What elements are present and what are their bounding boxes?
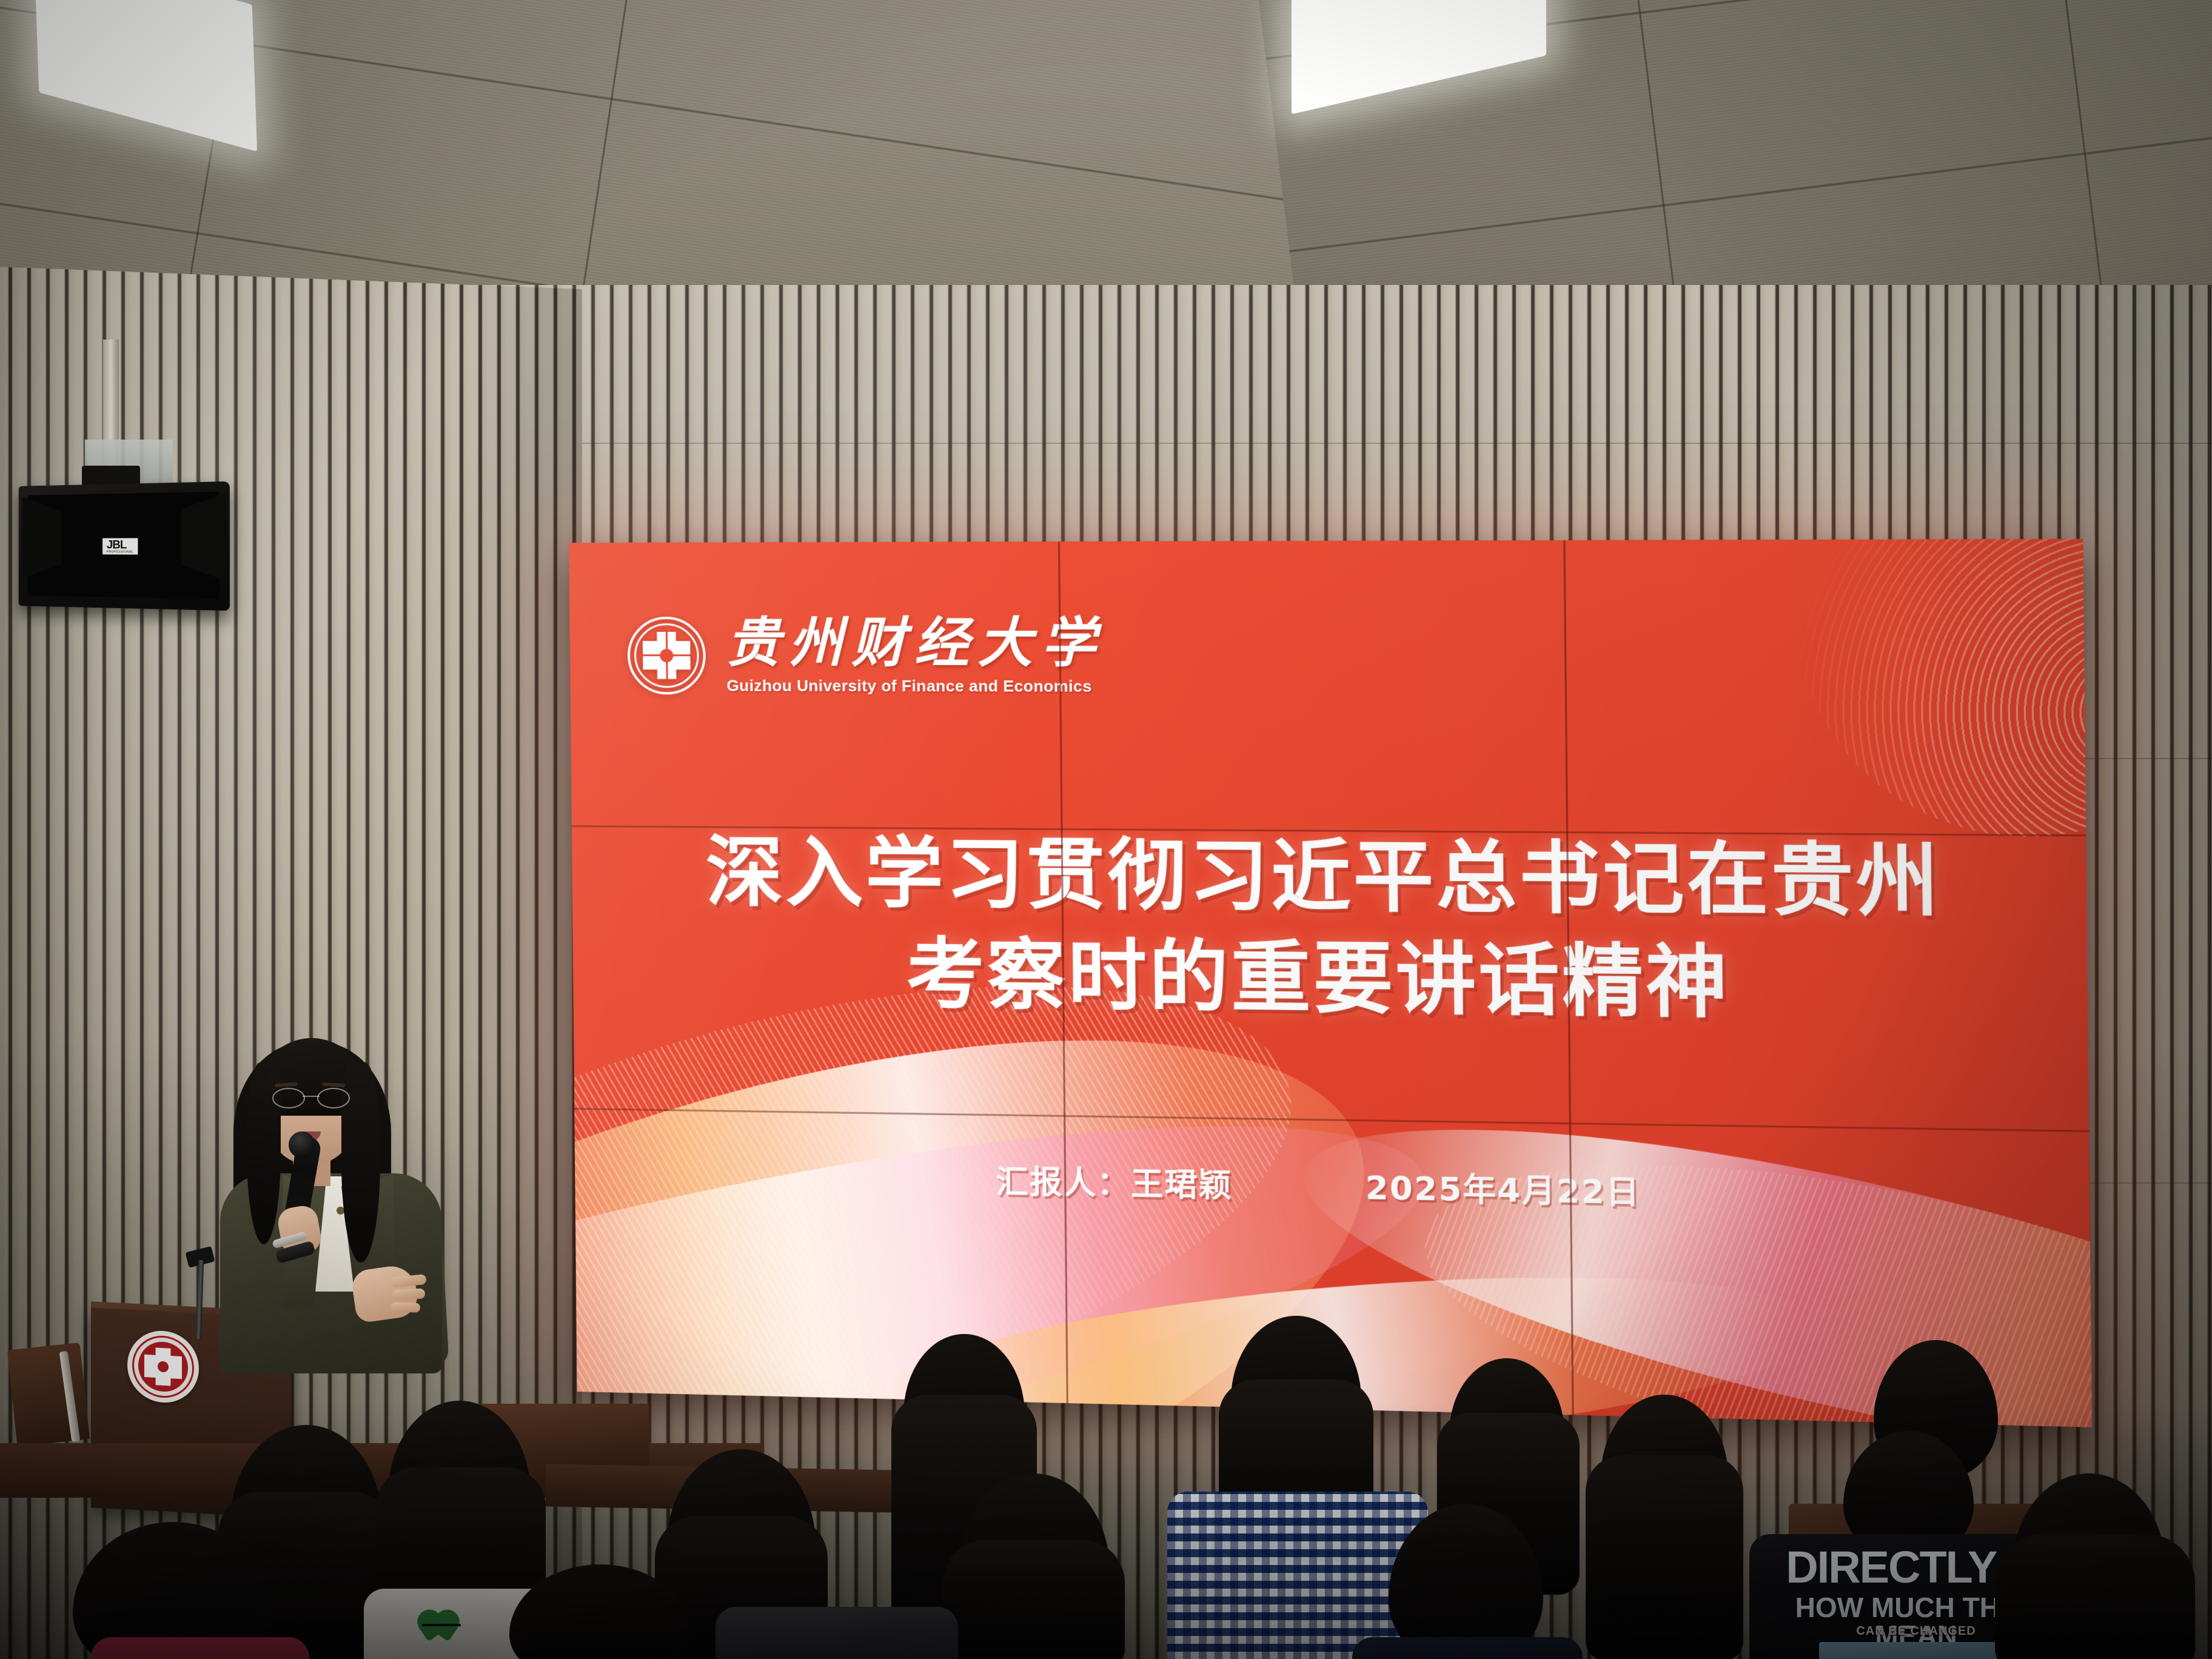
emblem-center-dot (660, 649, 673, 662)
photo-scene: JBL PROFESSIONAL (0, 0, 2212, 1659)
glasses-lens-right (317, 1088, 350, 1108)
slide-content: 贵州财经大学 Guizhou University of Finance and… (569, 539, 2092, 1427)
jbl-logo: JBL PROFESSIONAL (102, 538, 138, 554)
audience-torso-navy (1352, 1637, 1583, 1659)
slide-title-line-2: 考察时的重要讲话精神 (572, 921, 2088, 1039)
presenter-finger (392, 1289, 426, 1301)
university-name-block: 贵州财经大学 Guizhou University of Finance and… (726, 615, 1105, 696)
slide-presenter: 汇报人：王珺颖 (996, 1156, 1233, 1206)
presenter-finger (391, 1302, 421, 1313)
slide-title: 深入学习贯彻习近平总书记在贵州 考察时的重要讲话精神 (572, 822, 2088, 1039)
slide-meta-row: 汇报人：王珺颖 2025年4月22日 (575, 1149, 2090, 1221)
jbl-brand-text: JBL (107, 538, 126, 551)
tshirt-green-heart-icon (418, 1607, 463, 1644)
heart-ecg-line (422, 1624, 461, 1626)
glasses-bridge (303, 1096, 320, 1097)
slide-date: 2025年4月22日 (1365, 1162, 1640, 1213)
audience-torso-gingham-shirt (1167, 1492, 1428, 1659)
audience-hair (1995, 1534, 2195, 1659)
jbl-loudspeaker: JBL PROFESSIONAL (19, 481, 230, 611)
wall-speaker-assembly: JBL PROFESSIONAL (6, 418, 261, 661)
audience: DIRECTLY_? HOW MUCH THEY MEAN CAN BE CHA… (0, 1322, 2212, 1659)
university-name-en: Guizhou University of Finance and Econom… (726, 676, 1105, 695)
audience-hair (943, 1540, 1125, 1659)
audience-torso-grey (716, 1607, 958, 1659)
university-branding: 贵州财经大学 Guizhou University of Finance and… (627, 615, 1105, 696)
university-name-cn: 贵州财经大学 (726, 615, 1105, 669)
audience-hair (1586, 1455, 1743, 1659)
jacket-patch (1819, 1642, 2019, 1659)
led-video-wall[interactable]: 贵州财经大学 Guizhou University of Finance and… (569, 539, 2092, 1427)
university-emblem-icon (627, 617, 706, 695)
slide-title-line-1: 深入学习贯彻习近平总书记在贵州 (572, 822, 2087, 934)
presenter-glasses-icon (272, 1088, 350, 1106)
audience-torso-pink (91, 1637, 309, 1659)
glasses-lens-left (272, 1088, 305, 1108)
jbl-sub-text: PROFESSIONAL (107, 551, 133, 554)
